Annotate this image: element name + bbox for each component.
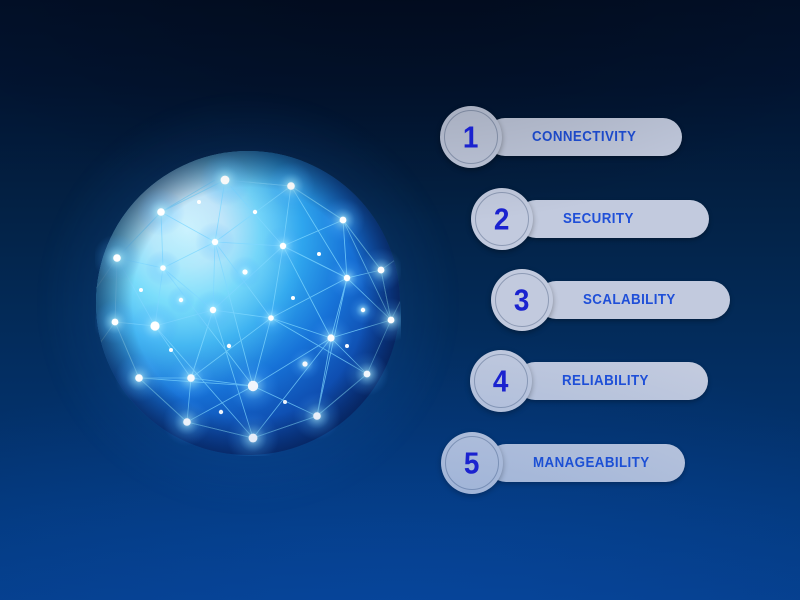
pillar-pill-5[interactable]: MANAGEABILITY <box>487 444 685 482</box>
pillar-pill-4[interactable]: RELIABILITY <box>516 362 708 400</box>
pillar-number-badge[interactable]: 4 <box>470 350 532 412</box>
pillar-number-badge[interactable]: 2 <box>471 188 533 250</box>
pillar-label: CONNECTIVITY <box>532 130 636 145</box>
pillar-number-badge[interactable]: 3 <box>491 269 553 331</box>
pillar-pill-2[interactable]: SECURITY <box>517 200 709 238</box>
pillar-label: RELIABILITY <box>562 374 649 389</box>
pillar-number: 4 <box>493 365 509 396</box>
pillar-number-badge[interactable]: 1 <box>440 106 502 168</box>
pillar-number: 1 <box>463 121 479 152</box>
infographic-canvas: CONNECTIVITY1SECURITY2SCALABILITY3RELIAB… <box>0 0 800 600</box>
pillar-pill-3[interactable]: SCALABILITY <box>537 281 730 319</box>
pillar-label: MANAGEABILITY <box>533 456 650 471</box>
pillar-number: 5 <box>464 447 480 478</box>
pillar-label: SECURITY <box>563 212 634 227</box>
pillar-number: 2 <box>494 203 510 234</box>
pillar-label: SCALABILITY <box>583 293 676 308</box>
pillar-number: 3 <box>514 284 530 315</box>
pillar-pill-1[interactable]: CONNECTIVITY <box>486 118 682 156</box>
globe-illustration <box>95 150 401 456</box>
network-globe <box>95 150 401 456</box>
pillar-number-badge[interactable]: 5 <box>441 432 503 494</box>
